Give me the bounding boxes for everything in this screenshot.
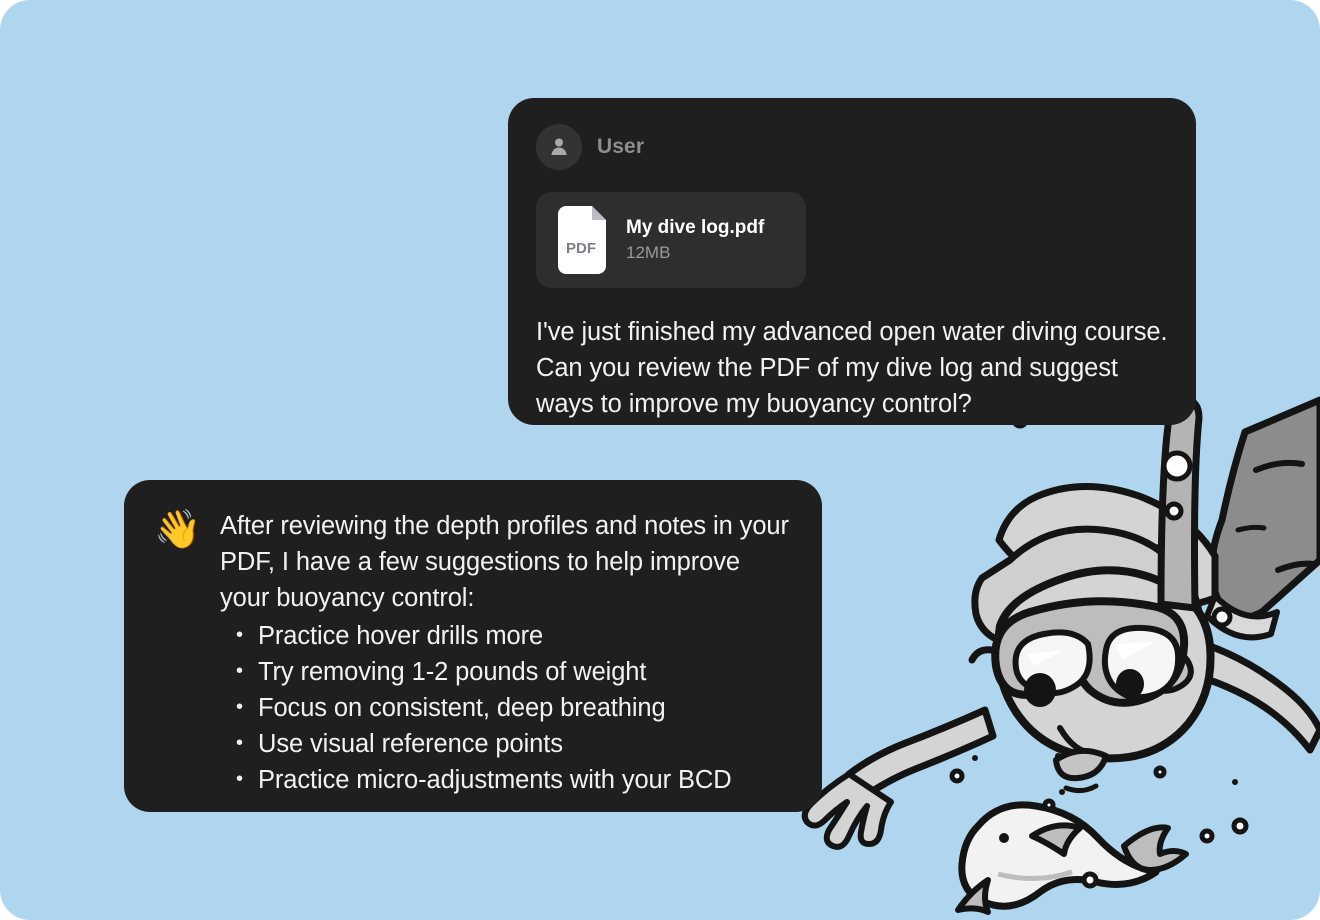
fish-eye xyxy=(999,833,1009,843)
diver-right-forearm xyxy=(1170,636,1320,750)
list-item: Practice micro-adjustments with your BCD xyxy=(258,762,796,798)
pdf-icon-label: PDF xyxy=(566,240,596,257)
fish-body xyxy=(962,805,1156,906)
pdf-file-size: 12MB xyxy=(626,243,764,263)
avatar xyxy=(536,124,582,170)
list-item: Focus on consistent, deep breathing xyxy=(258,690,796,726)
diver-mouth xyxy=(1056,751,1106,778)
pdf-file-name: My dive log.pdf xyxy=(626,217,764,239)
snorkel-mouthpiece xyxy=(1147,650,1191,691)
list-item: Practice hover drills more xyxy=(258,618,796,654)
user-message-text: I've just finished my advanced open wate… xyxy=(536,314,1168,422)
fish-tail xyxy=(1124,827,1186,870)
diver-eye-right xyxy=(1116,669,1144,699)
snorkel-tube xyxy=(1161,400,1199,608)
diver-nose xyxy=(1058,728,1094,762)
list-item: Try removing 1-2 pounds of weight xyxy=(258,654,796,690)
diver-sleeve-cuff xyxy=(1207,596,1277,637)
user-header: User xyxy=(536,124,1168,170)
user-sender-label: User xyxy=(597,135,644,159)
waving-hand-icon: 👋 xyxy=(154,508,204,554)
scene-canvas: User PDF My dive log.pdf 12MB I've just … xyxy=(0,0,1320,920)
list-item: Use visual reference points xyxy=(258,726,796,762)
diver-neck xyxy=(1000,634,1132,706)
diver-sleeve xyxy=(1212,400,1320,618)
user-message-bubble: User PDF My dive log.pdf 12MB I've just … xyxy=(508,98,1196,425)
bubble-group xyxy=(952,386,1246,886)
person-avatar-icon xyxy=(547,135,571,159)
assistant-message-bubble: 👋 After reviewing the depth profiles and… xyxy=(124,480,822,812)
diver-hair xyxy=(975,529,1200,646)
pdf-file-meta: My dive log.pdf 12MB xyxy=(626,217,764,263)
suggestion-list: Practice hover drills more Try removing … xyxy=(220,618,796,798)
mask-lens-left xyxy=(1016,632,1090,693)
assistant-intro-text: After reviewing the depth profiles and n… xyxy=(220,508,796,616)
small-bubble-group xyxy=(972,755,1238,795)
pdf-attachment-card[interactable]: PDF My dive log.pdf 12MB xyxy=(536,192,806,288)
pdf-file-icon: PDF xyxy=(554,206,610,274)
diver-torso xyxy=(999,486,1215,609)
fish-lower-fin xyxy=(958,880,988,912)
dive-mask xyxy=(995,601,1184,703)
mask-lens-right xyxy=(1105,628,1178,697)
assistant-message-body: After reviewing the depth profiles and n… xyxy=(220,508,796,812)
diver-eye-left xyxy=(1024,673,1056,707)
diver-head xyxy=(998,570,1211,758)
diver-left-arm xyxy=(849,710,993,796)
fish-dorsal-fin xyxy=(1032,825,1080,854)
